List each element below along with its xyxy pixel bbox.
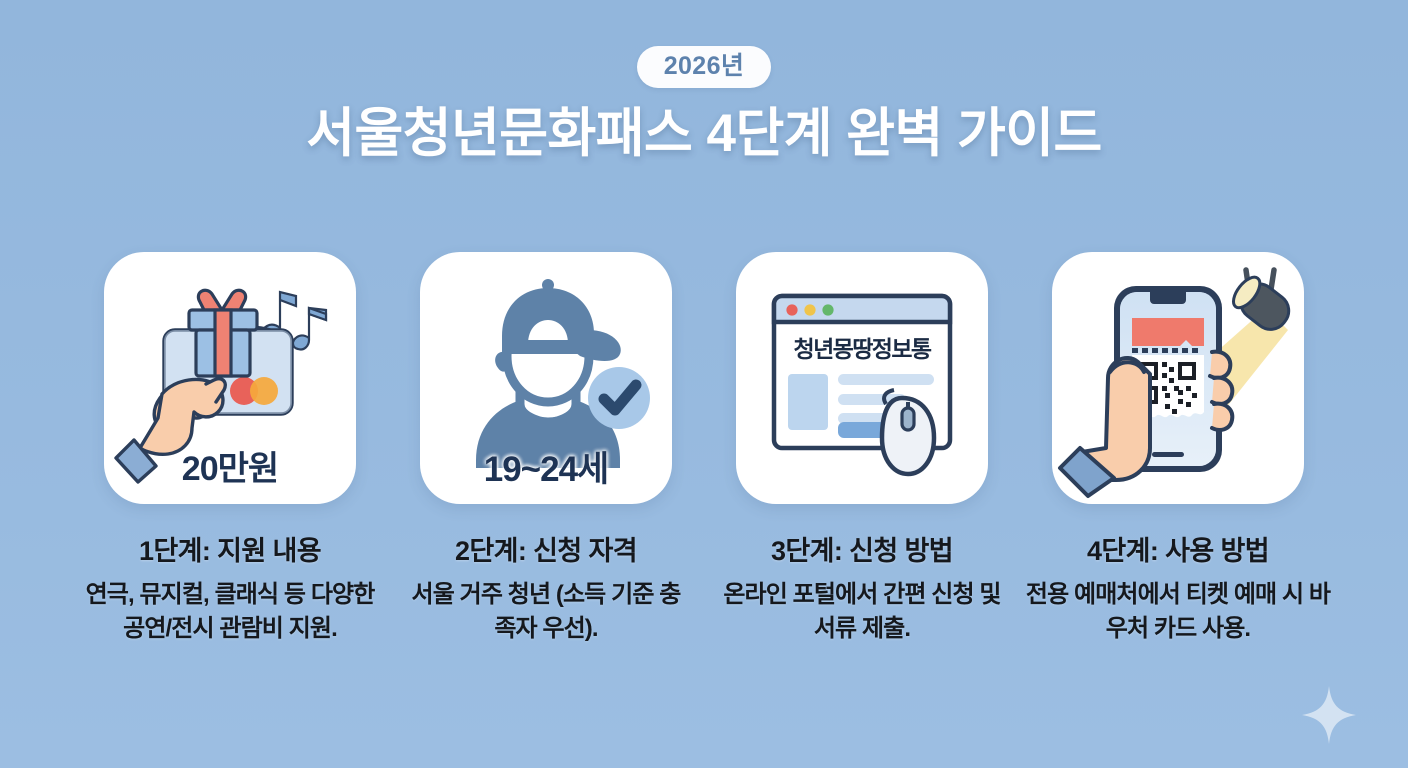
step-2-icon-caption: 19~24세 [420, 441, 672, 492]
step-1-icon-caption: 20만원 [104, 441, 356, 490]
step-3-description: 온라인 포털에서 간편 신청 및 서류 제출. [717, 578, 1007, 646]
step-2-heading: 2단계: 신청 자격 [455, 536, 637, 567]
steps-row: 20만원 1단계: 지원 내용 연극, 뮤지컬, 클래식 등 다양한 공연/전시… [0, 252, 1408, 646]
page-title: 서울청년문화패스 4단계 완벽 가이드 [0, 104, 1408, 163]
step-card-2: 19~24세 2단계: 신청 자격 서울 거주 청년 (소득 기준 충족자 우선… [420, 252, 672, 646]
step-4-description: 전용 예매처에서 티켓 예매 시 바우처 카드 사용. [1018, 578, 1338, 646]
hand-holding-voucher-card-icon: 20만원 [104, 252, 356, 504]
youth-person-verified-icon: 19~24세 [420, 252, 672, 504]
step-3-icon-caption: 청년몽땅정보통 [736, 330, 988, 364]
sparkle-star-icon [1302, 686, 1356, 744]
step-1-description: 연극, 뮤지컬, 클래식 등 다양한 공연/전시 관람비 지원. [85, 578, 375, 646]
infographic-poster: 2026년 서울청년문화패스 4단계 완벽 가이드 [0, 0, 1408, 768]
step-card-4: 4단계: 사용 방법 전용 예매처에서 티켓 예매 시 바우처 카드 사용. [1052, 252, 1304, 646]
online-portal-browser-mouse-icon: 청년몽땅정보통 [736, 252, 988, 504]
step-2-description: 서울 거주 청년 (소득 기준 충족자 우선). [401, 578, 691, 646]
step-card-3: 청년몽땅정보통 3단계: 신청 방법 온라인 포털에서 간편 신청 및 서류 제… [736, 252, 988, 646]
step-3-heading: 3단계: 신청 방법 [771, 536, 953, 567]
step-4-heading: 4단계: 사용 방법 [1087, 536, 1269, 567]
smartphone-qr-ticket-spotlight-icon [1052, 252, 1304, 504]
step-1-heading: 1단계: 지원 내용 [139, 536, 321, 567]
step-card-1: 20만원 1단계: 지원 내용 연극, 뮤지컬, 클래식 등 다양한 공연/전시… [104, 252, 356, 646]
year-badge: 2026년 [637, 46, 772, 88]
header: 2026년 서울청년문화패스 4단계 완벽 가이드 [0, 0, 1408, 164]
